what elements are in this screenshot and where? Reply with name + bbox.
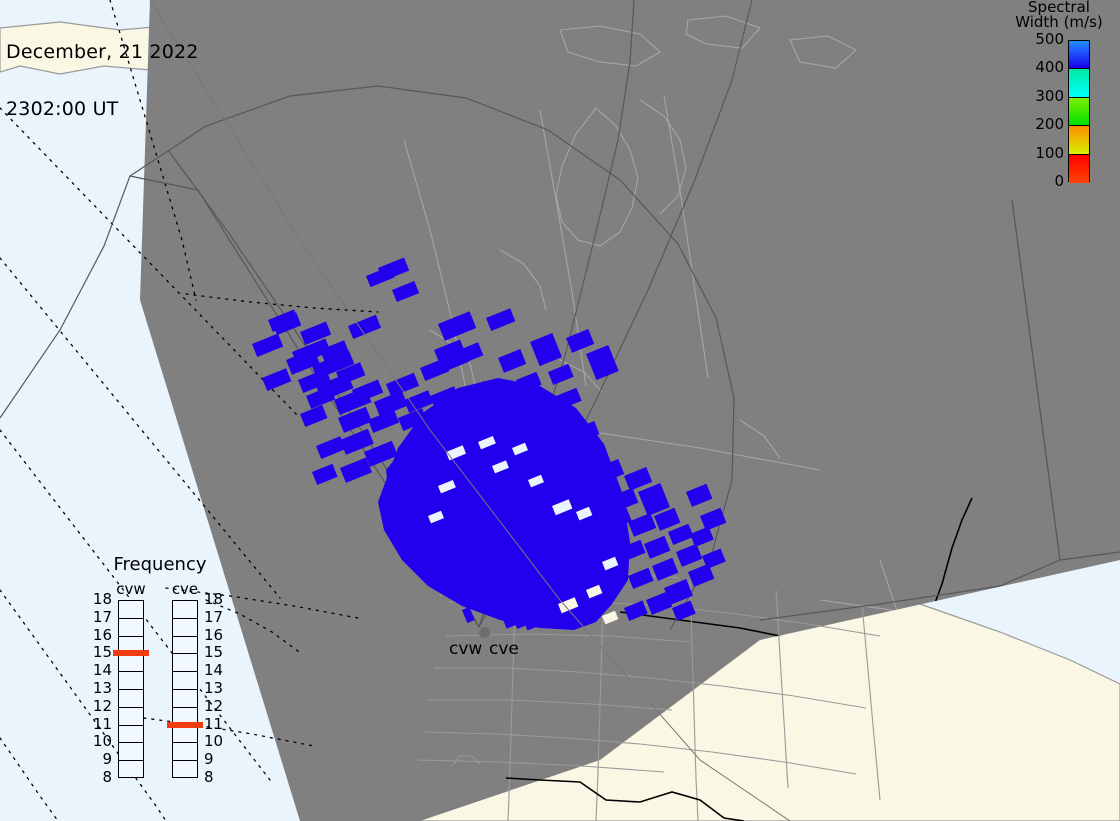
gauge-label-cvw-17: 17 xyxy=(86,610,112,625)
gauge-cell xyxy=(119,601,143,619)
gauge-cell xyxy=(119,619,143,637)
gauge-cell xyxy=(119,708,143,726)
gauge-label-cvw-13: 13 xyxy=(86,681,112,696)
gauge-label-cve-8: 8 xyxy=(204,770,230,785)
colorbar-gradient-strip xyxy=(1068,40,1090,182)
gauge-label-cve-17: 17 xyxy=(204,610,230,625)
gauge-cell xyxy=(173,726,197,744)
colorbar-tick-200: 200 xyxy=(1018,117,1064,132)
gauge-label-cvw-12: 12 xyxy=(86,699,112,714)
gauge-cell xyxy=(173,654,197,672)
gauge-marker-cvw xyxy=(113,650,149,656)
frequency-gauge-cve[interactable] xyxy=(172,600,198,778)
gauge-label-cvw-15: 15 xyxy=(86,645,112,660)
time-label: 2302:00 UT xyxy=(6,100,199,119)
gauge-label-cve-13: 13 xyxy=(204,681,230,696)
gauge-cell xyxy=(173,690,197,708)
gauge-label-cve-12: 12 xyxy=(204,699,230,714)
gauge-label-cvw-9: 9 xyxy=(86,752,112,767)
gauge-cell xyxy=(173,761,197,779)
frequency-panel: Frequency cvw18171615141312111098cve1817… xyxy=(80,556,240,796)
gauge-cell xyxy=(119,654,143,672)
gauge-label-cvw-18: 18 xyxy=(86,592,112,607)
colorbar-segment-100-200 xyxy=(1069,69,1089,97)
gauge-label-cve-14: 14 xyxy=(204,663,230,678)
gauge-label-cvw-14: 14 xyxy=(86,663,112,678)
gauge-label-cve-11: 11 xyxy=(204,717,230,732)
date-label: December, 21 2022 xyxy=(6,43,199,62)
gauge-label-cvw-11: 11 xyxy=(86,717,112,732)
fanplot-canvas: December, 21 2022 2302:00 UT Spectral Wi… xyxy=(0,0,1120,821)
colorbar-title: Spectral Width (m/s) xyxy=(1000,0,1118,30)
radar-site-label-cve: cve xyxy=(489,641,519,658)
gauge-cell xyxy=(119,726,143,744)
radar-site-marker xyxy=(479,627,490,638)
gauge-label-cvw-10: 10 xyxy=(86,734,112,749)
gauge-cell xyxy=(119,743,143,761)
gauge-label-cvw-8: 8 xyxy=(86,770,112,785)
gauge-name-cvw: cvw xyxy=(107,582,155,597)
frequency-gauge-cvw[interactable] xyxy=(118,600,144,778)
gauge-cell xyxy=(119,690,143,708)
gauge-cell xyxy=(119,672,143,690)
gauge-marker-cve xyxy=(167,722,203,728)
gauge-label-cvw-16: 16 xyxy=(86,628,112,643)
gauge-label-cve-9: 9 xyxy=(204,752,230,767)
colorbar-segment-0-100 xyxy=(1069,41,1089,69)
colorbar-tick-300: 300 xyxy=(1018,89,1064,104)
gauge-label-cve-10: 10 xyxy=(204,734,230,749)
gauge-cell xyxy=(119,761,143,779)
radar-site-label-cvw: cvw xyxy=(449,641,482,658)
colorbar-tick-0: 0 xyxy=(1018,174,1064,189)
gauge-label-cve-18: 18 xyxy=(204,592,230,607)
gauge-cell xyxy=(173,743,197,761)
colorbar-title-line2: Width (m/s) xyxy=(1000,15,1118,30)
colorbar-tick-500: 500 xyxy=(1018,32,1064,47)
colorbar-segment-300-400 xyxy=(1069,126,1089,154)
timestamp-block: December, 21 2022 2302:00 UT xyxy=(6,5,199,157)
gauge-cell xyxy=(173,601,197,619)
gauge-cell xyxy=(173,672,197,690)
gauge-label-cve-15: 15 xyxy=(204,645,230,660)
frequency-panel-title: Frequency xyxy=(80,556,240,574)
colorbar-tick-100: 100 xyxy=(1018,146,1064,161)
colorbar-segment-400-500 xyxy=(1069,155,1089,183)
colorbar-tick-400: 400 xyxy=(1018,60,1064,75)
colorbar-segment-200-300 xyxy=(1069,98,1089,126)
gauge-label-cve-16: 16 xyxy=(204,628,230,643)
gauge-name-cve: cve xyxy=(161,582,209,597)
gauge-cell xyxy=(173,619,197,637)
gauge-cell xyxy=(173,637,197,655)
